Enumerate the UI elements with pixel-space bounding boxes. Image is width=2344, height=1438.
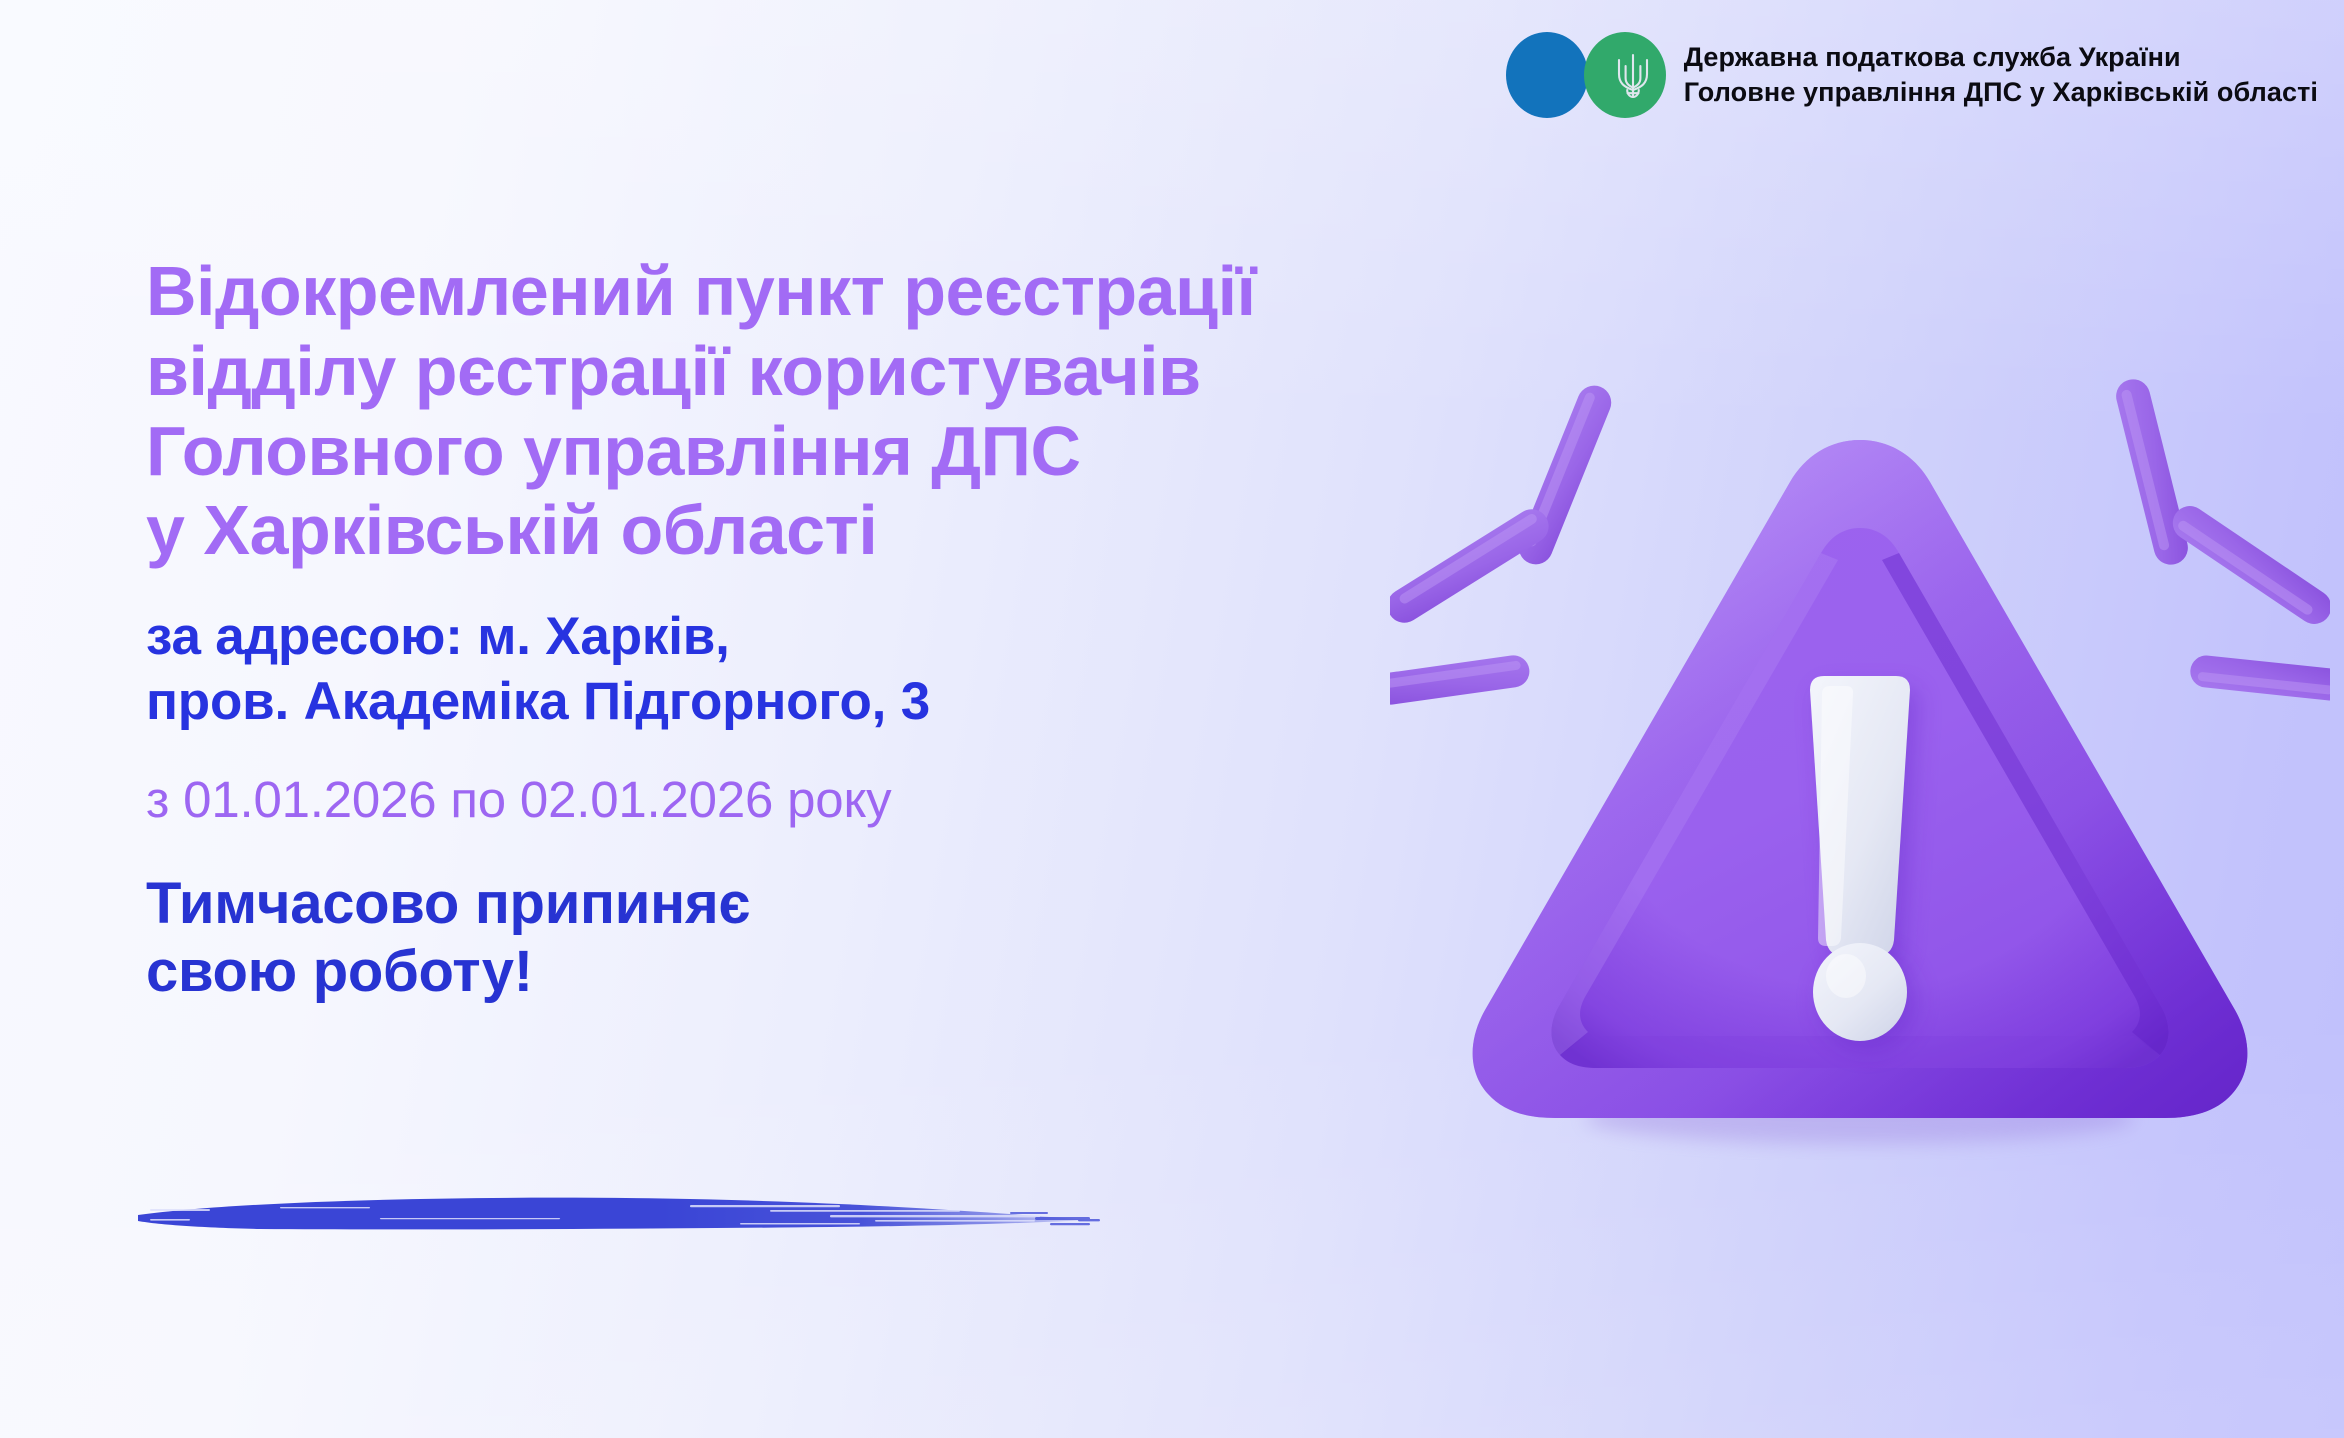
- headline-line1: Відокремлений пункт реєстрації: [146, 252, 1456, 332]
- closing-line1: Тимчасово припиняє: [146, 870, 1456, 938]
- logo-text-line2: Головне управління ДПС у Харківській обл…: [1684, 75, 2318, 110]
- closing-line2: свою роботу!: [146, 938, 1456, 1006]
- announcement-poster: Державна податкова служба України Головн…: [0, 0, 2344, 1438]
- page-title: Відокремлений пункт реєстрації відділу р…: [146, 252, 1456, 571]
- address-line1: за адресою: м. Харків,: [146, 605, 1456, 670]
- logo-marks: [1506, 32, 1670, 118]
- logo-text-line1: Державна податкова служба України: [1684, 40, 2318, 75]
- headline-line4: у Харківській області: [146, 491, 1456, 571]
- closing-statement: Тимчасово припиняє свою роботу!: [146, 870, 1456, 1007]
- agency-logo: Державна податкова служба України Головн…: [1506, 32, 2318, 118]
- headline-line3: Головного управління ДПС: [146, 412, 1456, 492]
- address-line2: пров. Академіка Підгорного, 3: [146, 670, 1456, 735]
- logo-text: Державна податкова служба України Головн…: [1684, 40, 2318, 110]
- date-range: з 01.01.2026 по 02.01.2026 року: [146, 769, 1456, 830]
- address-block: за адресою: м. Харків, пров. Академіка П…: [146, 605, 1456, 734]
- spark-dashes-right: [2113, 376, 2330, 702]
- ukraine-trident-icon: [1612, 52, 1654, 100]
- headline-line2: відділу рєстрації користувачів: [146, 332, 1456, 412]
- exclamation-mark: [1810, 676, 1918, 1050]
- warning-triangle-icon: [1390, 360, 2330, 1160]
- brush-stroke-underline: [130, 1185, 1130, 1255]
- announcement-content: Відокремлений пункт реєстрації відділу р…: [146, 252, 1456, 1007]
- logo-blue-circle: [1506, 32, 1588, 118]
